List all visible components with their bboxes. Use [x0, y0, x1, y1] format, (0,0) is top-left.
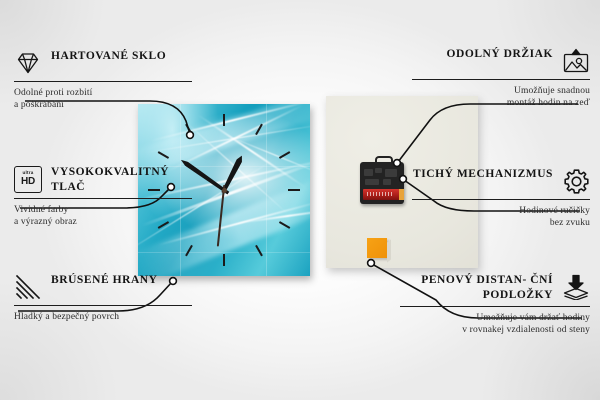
hand-center-cap	[222, 188, 227, 193]
feature-description-line: bez zvuku	[412, 217, 590, 229]
mechanism-detail	[385, 169, 397, 177]
feature-description-line: Vividné farby	[14, 204, 192, 216]
quartz-mechanism	[360, 162, 404, 204]
foam-pad-side	[387, 239, 391, 262]
feature-description-line: a poškrábání	[14, 99, 192, 111]
feature-title: ODOLNÝ DRŽIAK	[412, 46, 553, 62]
feature-foam-pads[interactable]: PENOVÝ DISTAN- ČNÍ PODLOŽKY Umožňuje vám…	[400, 272, 590, 336]
divider	[400, 306, 590, 307]
hour-tick	[223, 114, 225, 126]
hour-tick	[288, 189, 300, 191]
picture-frame-hanger-icon	[562, 47, 590, 75]
feature-description-line: Umožňuje vám držať hodiny	[400, 312, 590, 324]
divider	[14, 198, 192, 199]
feature-description-line: Odolné proti rozbití	[14, 87, 192, 99]
battery-label	[367, 192, 393, 196]
feature-header: ultra HD VYSOKOKVALITNÝ TLAČ	[14, 164, 192, 194]
feature-description: Hladký a bezpečný povrch	[14, 311, 192, 323]
hour-tick	[279, 221, 290, 229]
feature-description: Vividné farby a výrazný obraz	[14, 204, 192, 228]
feature-header: HARTOVANÉ SKLO	[14, 48, 192, 77]
feature-hd-print[interactable]: ultra HD VYSOKOKVALITNÝ TLAČ Vividné far…	[14, 164, 192, 228]
feature-durable-holder[interactable]: ODOLNÝ DRŽIAK Umožňuje snadnou montáž ho…	[412, 46, 590, 109]
divider	[412, 79, 590, 80]
feature-description: Odolné proti rozbití a poškrábání	[14, 87, 192, 111]
aa-battery	[363, 189, 401, 200]
feature-description-line: Hodinové ručičky	[412, 205, 590, 217]
feature-header: ODOLNÝ DRŽIAK	[412, 46, 590, 75]
feature-description-line: Umožňuje snadnou	[412, 85, 590, 97]
hour-tick	[223, 254, 225, 266]
feature-silent-mechanism[interactable]: TICHÝ MECHANIZMUS Hodinové ručičky bez z…	[412, 166, 590, 229]
feature-description-line: v rovnakej vzdialenosti od steny	[400, 324, 590, 336]
mechanism-detail	[375, 168, 382, 173]
gear-icon	[562, 167, 590, 195]
feature-description-line: a výrazný obraz	[14, 216, 192, 228]
feature-title: BRÚSENÉ HRANY	[51, 272, 192, 288]
second-hand	[217, 185, 225, 247]
feature-title: VYSOKOKVALITNÝ TLAČ	[51, 164, 192, 194]
feature-header: TICHÝ MECHANIZMUS	[412, 166, 590, 195]
divider	[14, 305, 192, 306]
feature-header: PENOVÝ DISTAN- ČNÍ PODLOŽKY	[400, 272, 590, 302]
hour-tick	[255, 124, 263, 135]
feature-description: Umožňuje vám držať hodiny v rovnakej vzd…	[400, 312, 590, 336]
hour-tick	[185, 245, 193, 256]
hour-tick	[185, 124, 193, 135]
battery-positive-terminal	[399, 189, 404, 200]
hour-tick	[279, 151, 290, 159]
divider	[412, 199, 590, 200]
feature-description-line: montáž hodin na zeď	[412, 97, 590, 109]
feature-beveled-edges[interactable]: BRÚSENÉ HRANY Hladký a bezpečný povrch	[14, 272, 192, 323]
mechanism-hanger	[375, 156, 393, 166]
feature-tempered-glass[interactable]: HARTOVANÉ SKLO Odolné proti rozbití a po…	[14, 48, 192, 111]
feature-title: PENOVÝ DISTAN- ČNÍ PODLOŽKY	[400, 272, 553, 302]
mechanism-detail	[364, 169, 373, 176]
foam-distance-pad	[367, 238, 387, 258]
ultra-hd-icon-main-text: HD	[21, 177, 35, 187]
feature-description-line: Hladký a bezpečný povrch	[14, 311, 192, 323]
feature-title: HARTOVANÉ SKLO	[51, 48, 192, 64]
hour-tick	[158, 151, 169, 159]
download-layers-icon	[562, 273, 590, 301]
infographic-canvas: HARTOVANÉ SKLO Odolné proti rozbití a po…	[0, 0, 600, 400]
feature-title: TICHÝ MECHANIZMUS	[412, 166, 553, 182]
diamond-icon	[14, 49, 42, 77]
mechanism-detail	[383, 179, 391, 185]
ultra-hd-icon: ultra HD	[14, 165, 42, 193]
hour-tick	[255, 245, 263, 256]
feature-description: Hodinové ručičky bez zvuku	[412, 205, 590, 229]
feature-description: Umožňuje snadnou montáž hodin na zeď	[412, 85, 590, 109]
divider	[14, 81, 192, 82]
mechanism-detail	[365, 179, 379, 185]
beveled-edge-icon	[14, 273, 42, 301]
feature-header: BRÚSENÉ HRANY	[14, 272, 192, 301]
